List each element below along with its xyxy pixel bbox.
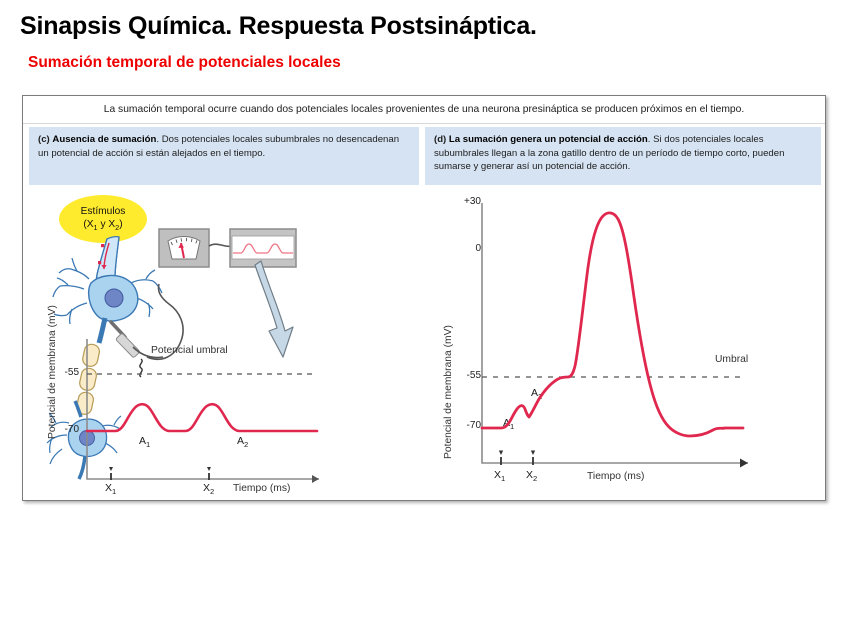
- chart-c-xtick-x1: X1: [105, 482, 116, 496]
- chart-d-xtick-x2: X2: [526, 469, 537, 483]
- chart-d-annotation-a1: A1: [503, 417, 514, 431]
- chart-d-trace: [482, 213, 743, 436]
- chart-d-ytick--70: -70: [449, 420, 481, 431]
- chart-d-x-axis-title: Tiempo (ms): [587, 471, 644, 482]
- chart-c-trace: [87, 404, 317, 431]
- page-subtitle: Sumación temporal de potenciales locales: [28, 54, 341, 72]
- chart-d-threshold-label: Umbral: [715, 354, 748, 365]
- page-title: Sinapsis Química. Respuesta Postsináptic…: [20, 12, 537, 41]
- chart-d-xtick-x1: X1: [494, 469, 505, 483]
- chart-d-annotation-a2: A2: [531, 387, 542, 401]
- caption-c-label: (c): [38, 134, 50, 145]
- chart-c-ytick--55: -55: [51, 367, 79, 378]
- caption-d-bold: La sumación genera un potencial de acció…: [449, 134, 648, 145]
- chart-c-x-axis-title: Tiempo (ms): [233, 483, 290, 494]
- caption-box-d: (d) La sumación genera un potencial de a…: [425, 127, 821, 185]
- chart-d-y-axis-title: Potencial de membrana (mV): [443, 325, 454, 459]
- caption-c-bold: Ausencia de sumación: [52, 134, 156, 145]
- chart-c: Potencial de membrana (mV) -55 -70 Poten…: [29, 191, 421, 491]
- figure-banner-text: La sumación temporal ocurre cuando dos p…: [104, 104, 745, 115]
- chart-d: Potencial de membrana (mV) +30 0 -55 -70…: [425, 191, 821, 491]
- figure-banner: La sumación temporal ocurre cuando dos p…: [23, 96, 825, 124]
- figure-panel: La sumación temporal ocurre cuando dos p…: [22, 95, 826, 501]
- caption-box-c: (c) Ausencia de sumación. Dos potenciale…: [29, 127, 419, 185]
- chart-d-ytick--55: -55: [449, 370, 481, 381]
- caption-d-label: (d): [434, 134, 446, 145]
- chart-d-ytick-0: 0: [449, 243, 481, 254]
- panel-d: Potencial de membrana (mV) +30 0 -55 -70…: [425, 191, 821, 491]
- chart-c-threshold-label: Potencial umbral: [151, 345, 228, 356]
- chart-c-annotation-a1: A1: [139, 435, 150, 449]
- chart-c-ytick--70: -70: [51, 424, 79, 435]
- chart-c-xtick-x2: X2: [203, 482, 214, 496]
- chart-c-annotation-a2: A2: [237, 435, 248, 449]
- chart-d-ytick-+30: +30: [449, 196, 481, 207]
- panel-c: Estímulos (X1 y X2): [29, 191, 421, 491]
